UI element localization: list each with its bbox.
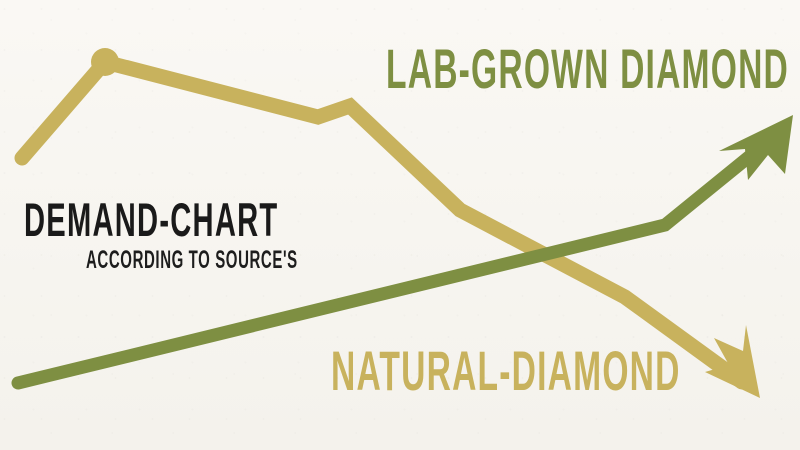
circle-marker-icon [91,48,119,76]
natural-label-text: NATURAL-DIAMOND [331,343,681,399]
subtitle-text: ACCORDING TO SOURCE'S [86,248,298,273]
page-title: DEMAND-CHART ACCORDING TO SOURCE'S [24,196,439,273]
lab-grown-label-text: LAB-GROWN DIAMOND [386,41,789,97]
infographic-canvas: DEMAND-CHART ACCORDING TO SOURCE'S LAB-G… [0,0,800,450]
title-text: DEMAND-CHART [24,196,281,244]
series-label-natural: NATURAL-DIAMOND [331,343,800,399]
series-label-lab-grown: LAB-GROWN DIAMOND [386,41,800,97]
